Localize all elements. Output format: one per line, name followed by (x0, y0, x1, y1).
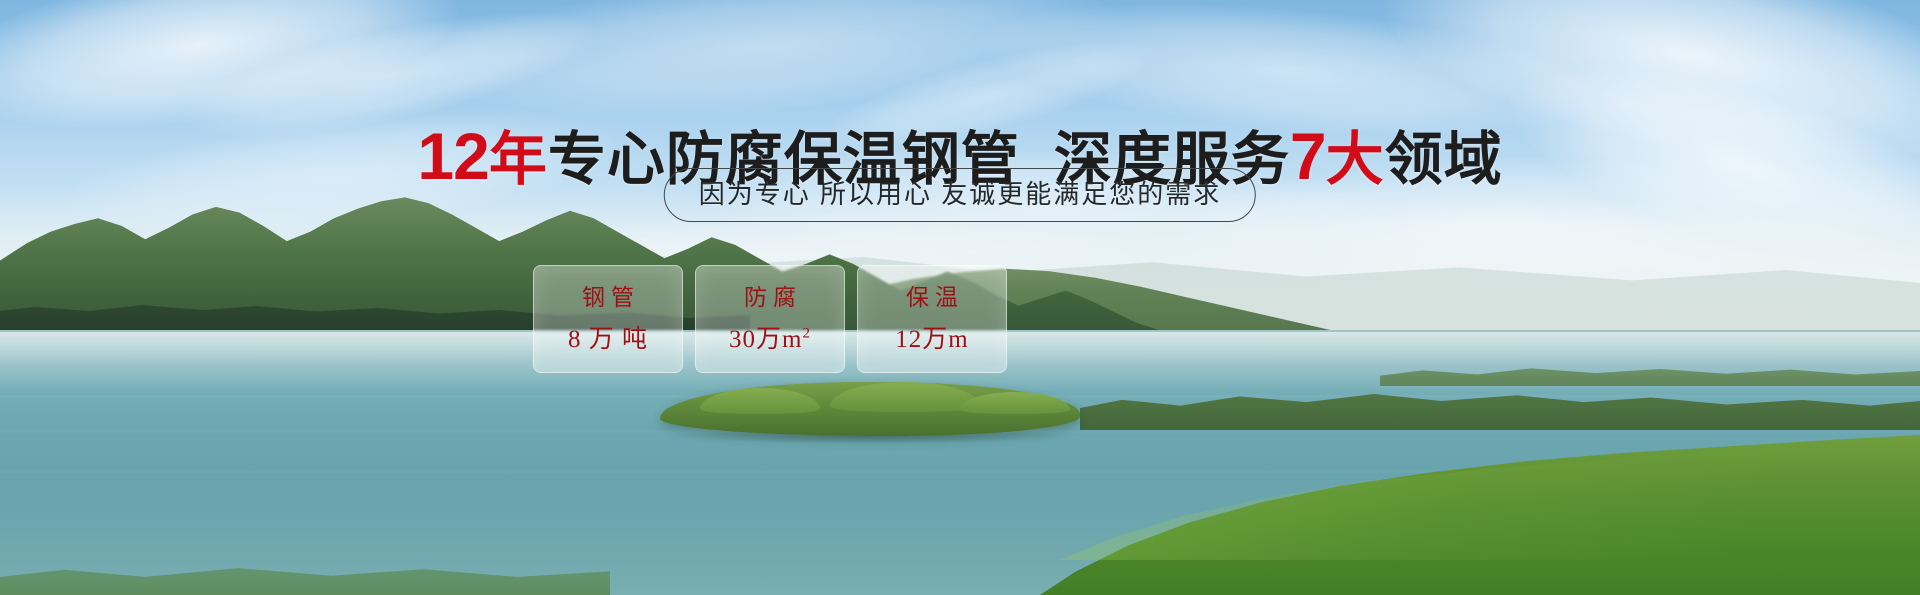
stat-value-main: 30万m (729, 326, 802, 353)
banner-subtitle-pill: 因为专心 所以用心 友诚更能满足您的需求 (664, 168, 1256, 222)
stat-card-value: 8 万 吨 (568, 325, 648, 355)
stat-value-main: 12万m (895, 326, 968, 353)
stat-card-insulation: 保温 12万m (857, 265, 1007, 373)
headline-fields-suffix: 领域 (1385, 127, 1503, 192)
stat-card-label: 防腐 (738, 283, 802, 313)
headline-years-number: 12 (417, 119, 488, 193)
banner-content: 12年专心防腐保温钢管深度服务7大领域 因为专心 所以用心 友诚更能满足您的需求… (0, 0, 1920, 595)
stat-value-main: 8 万 吨 (568, 326, 648, 353)
headline-fields-number: 7 (1290, 119, 1326, 193)
stat-card-steel-pipe: 钢管 8 万 吨 (533, 265, 683, 373)
stat-card-label: 保温 (900, 283, 964, 313)
headline-fields-unit: 大 (1326, 127, 1385, 192)
hero-banner: 12年专心防腐保温钢管深度服务7大领域 因为专心 所以用心 友诚更能满足您的需求… (0, 0, 1920, 595)
stat-value-superscript: 2 (802, 326, 811, 342)
headline-years-unit: 年 (489, 127, 548, 192)
stats-card-group: 钢管 8 万 吨 防腐 30万m2 保温 12万m (533, 265, 1007, 373)
stat-card-value: 12万m (895, 325, 968, 355)
stat-card-anticorrosion: 防腐 30万m2 (695, 265, 845, 373)
stat-card-value: 30万m2 (729, 325, 811, 355)
stat-card-label: 钢管 (576, 283, 640, 313)
